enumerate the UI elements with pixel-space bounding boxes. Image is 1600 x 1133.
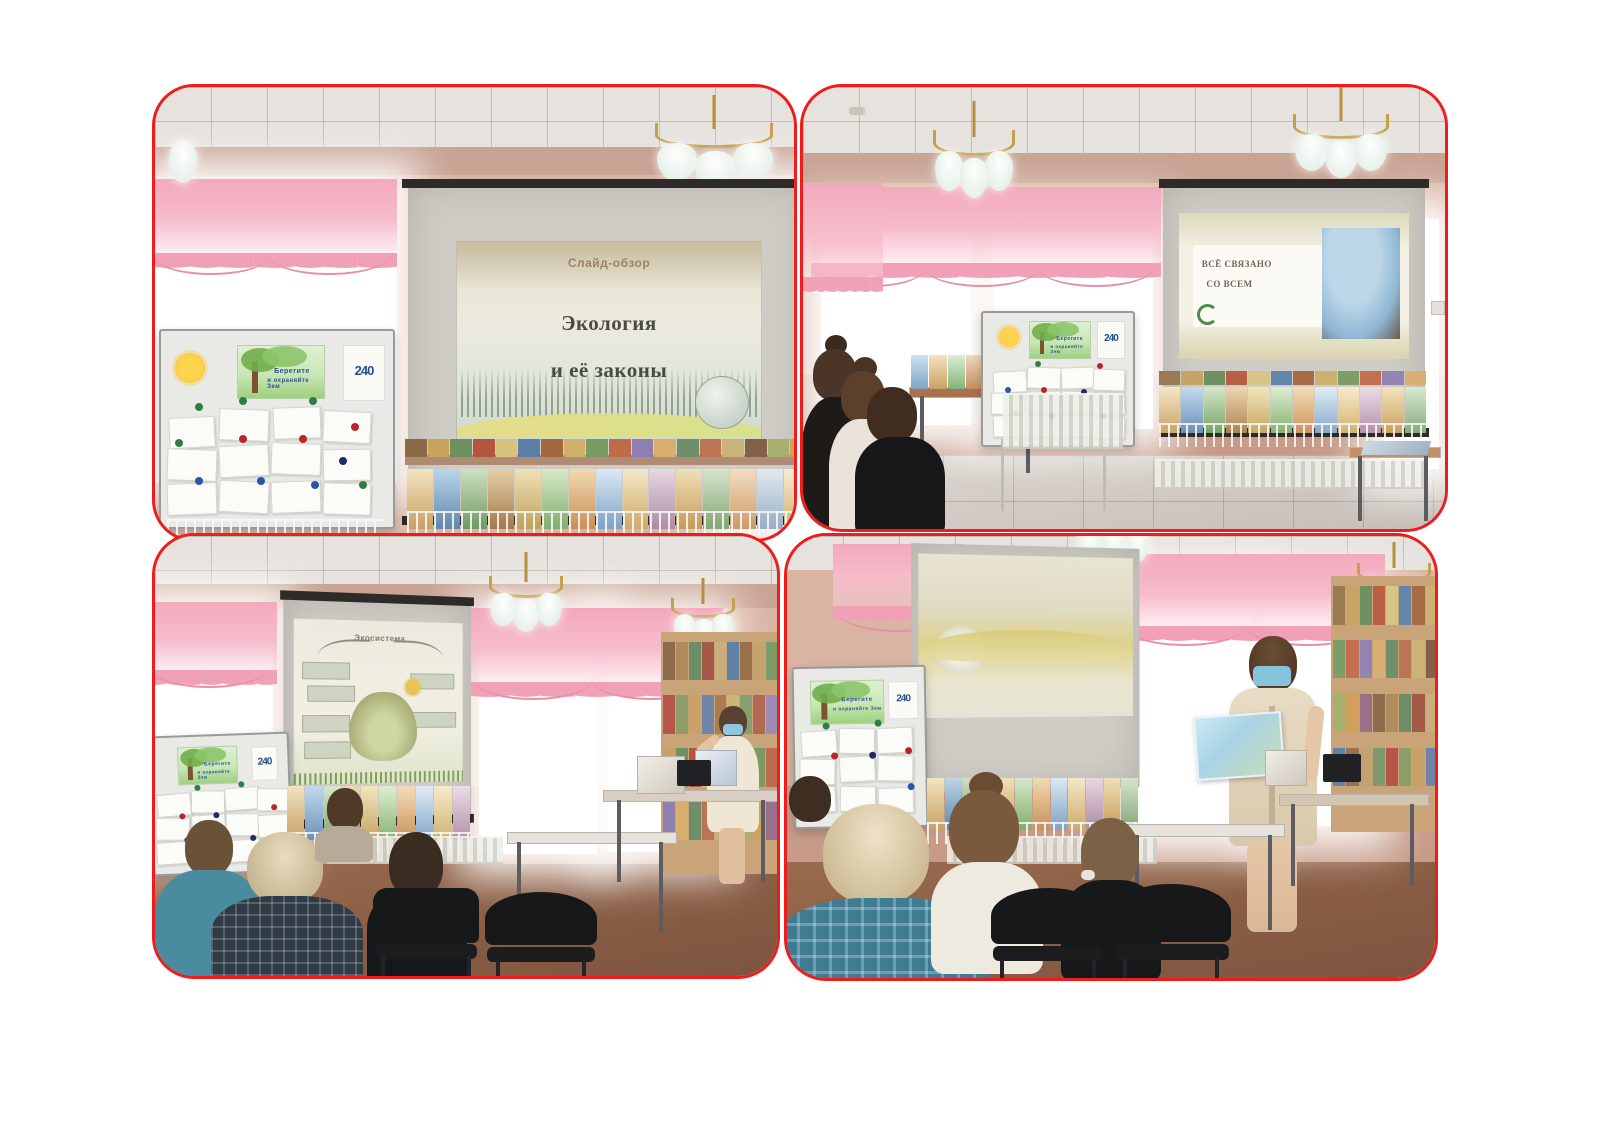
diagram-label-box [307, 685, 354, 702]
diagram-label-box [302, 662, 349, 680]
board-card [839, 728, 875, 755]
board-card [224, 786, 260, 811]
badge-240-number: 240 [1098, 334, 1124, 344]
magnet-green [1035, 361, 1041, 367]
diagram-label-box [304, 741, 351, 758]
wall-lamp-left [161, 125, 205, 183]
diagram-island-illustration [349, 692, 416, 761]
chair [991, 888, 1105, 978]
curtain-swag-c1 [473, 658, 593, 700]
tree-poster-line1: Берегите [841, 697, 872, 704]
display-rail [407, 511, 794, 535]
audience-person-back-row [315, 788, 373, 860]
hair-tie-icon [1081, 870, 1095, 880]
curtain-pelmet-right [803, 183, 883, 293]
chair [373, 888, 479, 976]
slide-ecosystem: Экосистема [293, 618, 462, 785]
board-card [156, 792, 192, 818]
diagram-arrow-right [393, 640, 442, 665]
side-table [1349, 447, 1441, 521]
projection-screen [911, 543, 1139, 793]
magnet-blue [311, 481, 319, 489]
magnet-green [823, 723, 830, 730]
magnet-navy [869, 752, 876, 759]
photo-collage: Слайд-обзор Экология и её законы [0, 0, 1600, 1133]
slide-line2: СО ВСЕМ [1206, 279, 1252, 289]
work-table-right [1279, 794, 1429, 886]
magnet-red [905, 747, 912, 754]
magnet-red [239, 435, 247, 443]
curtain-swag-c [1037, 245, 1155, 287]
grass-strip [293, 770, 462, 785]
slide-kicker: Слайд-обзор [457, 256, 761, 270]
badge-240-poster: 240 [251, 746, 278, 781]
tree-poster: Берегите и охраняйте Зем [1029, 321, 1091, 359]
board-card [272, 406, 321, 440]
photo-top-left[interactable]: Слайд-обзор Экология и её законы [152, 84, 797, 542]
photo-top-right[interactable]: ВСЁ СВЯЗАНО СО ВСЕМ [800, 84, 1448, 532]
sun-icon [999, 327, 1019, 347]
chandelier-left [489, 552, 563, 626]
face-mask-icon [1253, 666, 1291, 686]
tree-poster-line1: Берегите [274, 368, 310, 375]
tree-poster-line1: Берегите [1056, 336, 1083, 342]
slide-title: Слайд-обзор Экология и её законы [456, 241, 762, 447]
tree-poster-line2: и охраняйте Зем [833, 706, 882, 713]
photo-bottom-left[interactable]: Экосистема [152, 533, 780, 979]
chair [1111, 884, 1231, 978]
recycle-icon [1197, 304, 1218, 325]
audience-person-far-left [787, 776, 845, 856]
face-mask-icon [723, 724, 743, 735]
slide-photo [918, 553, 1133, 718]
diagram-label-box [302, 715, 349, 732]
magnet-red [831, 752, 838, 759]
magnet-blue [257, 477, 265, 485]
whiteboard[interactable]: Берегите и охраняйте Зем 240 [159, 329, 395, 529]
board-card [166, 482, 217, 516]
curtain-swag-left [155, 233, 271, 275]
magnet-navy [339, 457, 347, 465]
exhibit-stand [1265, 750, 1307, 786]
easel-leg [1103, 439, 1106, 511]
magnet-green [175, 439, 183, 447]
sun-icon [175, 353, 205, 383]
diagram-arrow-left [318, 639, 370, 665]
tree-poster: Берегите и охраняйте Зем [237, 345, 325, 399]
monitor [1323, 754, 1361, 782]
radiator [1003, 393, 1123, 449]
chair [485, 892, 597, 976]
badge-240-poster: 240 [888, 681, 919, 720]
diagram-sun-icon [405, 679, 420, 694]
slide-connected: ВСЁ СВЯЗАНО СО ВСЕМ [1179, 213, 1410, 359]
magazine-on-table [1361, 441, 1432, 455]
tree-poster: Берегите и охраняйте Зем [810, 680, 885, 725]
book-display-upper [1159, 371, 1427, 385]
monitor [677, 760, 711, 786]
slide-ecosystem-title: Экосистема [293, 631, 462, 644]
board-card [877, 755, 913, 782]
wall-socket-icon [1431, 301, 1445, 315]
magnet-red [299, 435, 307, 443]
slide-landscape-image [1322, 228, 1400, 339]
board-card [270, 442, 321, 476]
board-card [323, 449, 372, 482]
scene-bottom-left: Экосистема [155, 536, 777, 976]
badge-240-poster: 240 [1097, 321, 1125, 359]
slide-title-line1: Экология [457, 311, 761, 336]
smoke-detector-icon [849, 107, 865, 115]
curtain-swag-b [923, 245, 1041, 287]
magnet-blue [195, 477, 203, 485]
board-card [191, 790, 225, 813]
magnet-green [359, 481, 367, 489]
board-card [218, 444, 270, 479]
board-card [1061, 366, 1096, 389]
tree-poster-line2: и охраняйте Зем [197, 769, 237, 780]
chandelier-left [933, 101, 1015, 191]
magnet-red [351, 423, 359, 431]
scene-top-left: Слайд-обзор Экология и её законы [155, 87, 794, 539]
book-display-upper [405, 439, 794, 457]
badge-240-number: 240 [252, 757, 276, 768]
badge-240-number: 240 [344, 364, 384, 377]
magnet-green [309, 397, 317, 405]
board-card [1093, 368, 1126, 391]
magnet-red [1097, 363, 1103, 369]
chandelier [655, 95, 773, 181]
scene-top-right: ВСЁ СВЯЗАНО СО ВСЕМ [803, 87, 1445, 529]
magnet-green [875, 720, 882, 727]
audience-person [855, 387, 939, 529]
globe-icon [695, 376, 749, 430]
magnet-blue [908, 783, 915, 790]
display-table-back [603, 790, 777, 882]
tree-poster-line2: и охраняйте Зем [267, 378, 324, 390]
tree-poster-line2: и охраняйте Зем [1050, 344, 1090, 354]
board-card [322, 410, 372, 444]
magnet-green [239, 397, 247, 405]
badge-240-number: 240 [889, 694, 917, 704]
board-card [218, 480, 270, 515]
photo-bottom-right[interactable]: Берегите и охраняйте Зем 240 [784, 533, 1438, 981]
chandelier-right [1293, 87, 1389, 171]
easel-leg [1001, 439, 1004, 511]
scene-bottom-right: Берегите и охраняйте Зем 240 [787, 536, 1435, 978]
board-card [166, 448, 217, 482]
slide-line1: ВСЁ СВЯЗАНО [1202, 259, 1272, 269]
curtain-swag-left-2 [267, 233, 391, 275]
tree-poster-line1: Берегите [204, 761, 231, 768]
tree-poster: Берегите и охраняйте Зем [177, 745, 238, 785]
badge-240-poster: 240 [343, 345, 385, 401]
magnet-green [195, 403, 203, 411]
diagram-label-box [412, 712, 456, 728]
